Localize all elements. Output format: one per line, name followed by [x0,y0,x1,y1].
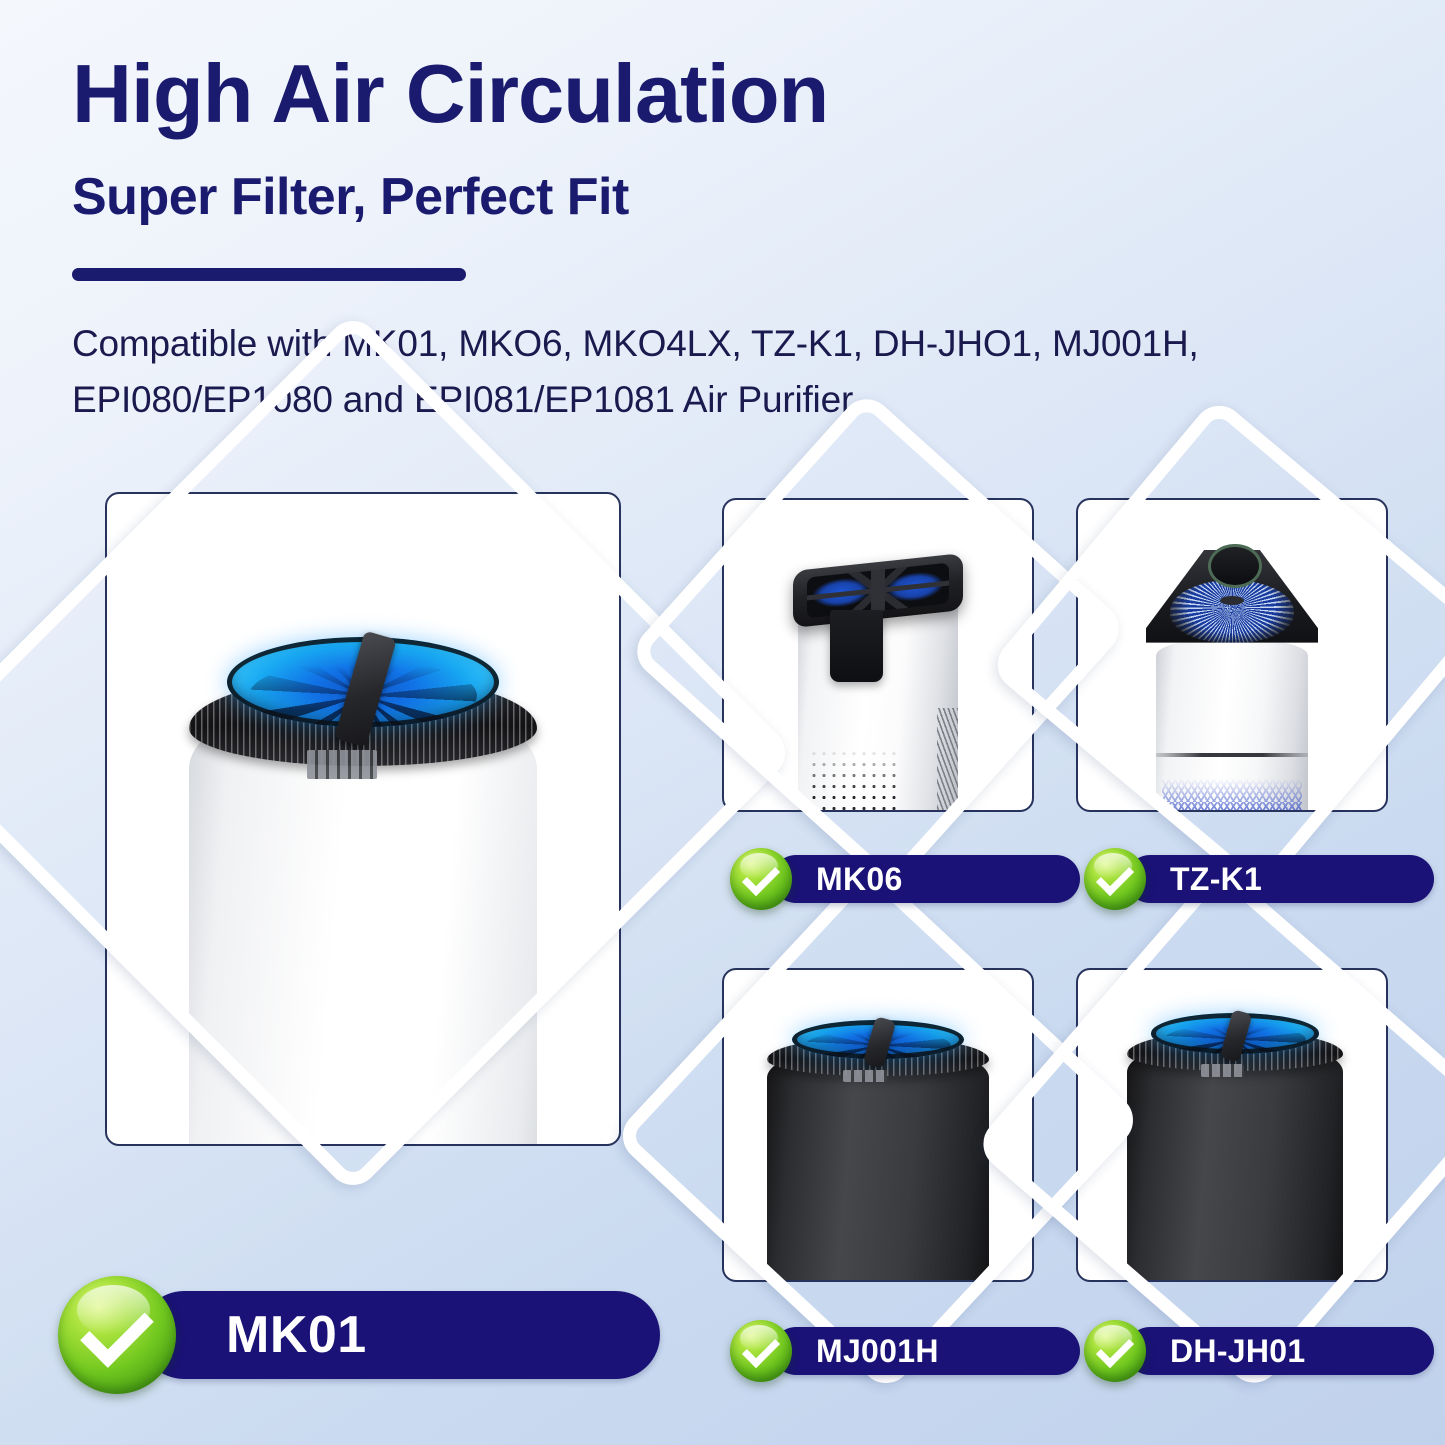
product-photo-mk06 [724,500,1032,810]
checkmark-glyph [1096,858,1134,896]
air-purifier-cone-white [1146,550,1318,810]
purifier-body [1156,639,1308,810]
model-label: DH-JH01 [1170,1333,1305,1370]
model-badge-dhjh01: DH-JH01 [1084,1320,1434,1382]
model-badge-mk06: MK06 [730,848,1080,910]
model-label: MK01 [226,1305,367,1365]
model-badge-pill: DH-JH01 [1126,1327,1434,1375]
product-photo-dhjh01 [1078,970,1386,1280]
product-card-mk01 [105,492,621,1146]
model-label: MJ001H [816,1333,939,1370]
checkmark-glyph [80,1295,154,1369]
product-card-tzk1 [1076,498,1388,812]
check-circle-icon [730,848,792,910]
product-photo-tzk1 [1078,500,1386,810]
page-subtitle: Super Filter, Perfect Fit [72,170,1272,225]
compatibility-text: Compatible with MK01, MKO6, MKO4LX, TZ-K… [72,316,1362,427]
checkmark-glyph [1096,1330,1134,1368]
model-badge-pill: MJ001H [772,1327,1080,1375]
purifier-vent-pattern [1162,776,1302,810]
check-circle-icon [1084,848,1146,910]
check-circle-icon [58,1276,176,1394]
product-card-mj001h [722,968,1034,1282]
air-purifier-cylinder-white [189,637,537,1144]
air-purifier-box-white [798,562,958,810]
air-purifier-cylinder-black [1127,1013,1343,1280]
air-purifier-cylinder-black [767,1020,989,1280]
purifier-front-panel [830,610,883,681]
check-circle-icon [1084,1320,1146,1382]
model-badge-pill: MK06 [772,855,1080,903]
purifier-seam-ring [1156,753,1308,757]
check-circle-icon [730,1320,792,1382]
purifier-control-buttons [307,750,377,779]
product-infographic: High Air Circulation Super Filter, Perfe… [0,0,1445,1445]
purifier-outlet-ring [1208,544,1262,589]
product-card-dhjh01 [1076,968,1388,1282]
product-photo-mk01 [107,494,619,1144]
purifier-mesh-front [809,748,899,810]
purifier-control-buttons [843,1070,887,1083]
title-divider [72,268,466,281]
product-photo-mj001h [724,970,1032,1280]
model-badge-tzk1: TZ-K1 [1084,848,1434,910]
model-label: TZ-K1 [1170,861,1262,898]
checkmark-glyph [742,858,780,896]
model-label: MK06 [816,861,903,898]
product-card-mk06 [722,498,1034,812]
model-badge-pill: TZ-K1 [1126,855,1434,903]
compatibility-line-2: EPI080/EP1080 and EPI081/EP1081 Air Puri… [72,372,1362,428]
checkmark-glyph [742,1330,780,1368]
purifier-fan-glow [1170,580,1294,643]
model-badge-pill: MK01 [140,1291,660,1379]
purifier-mesh-side [937,708,958,810]
model-badge-mk01: MK01 [58,1276,660,1394]
compatibility-line-1: Compatible with MK01, MKO6, MKO4LX, TZ-K… [72,316,1362,372]
page-title: High Air Circulation [72,52,1272,137]
purifier-control-buttons [1201,1064,1244,1077]
model-badge-mj001h: MJ001H [730,1320,1080,1382]
